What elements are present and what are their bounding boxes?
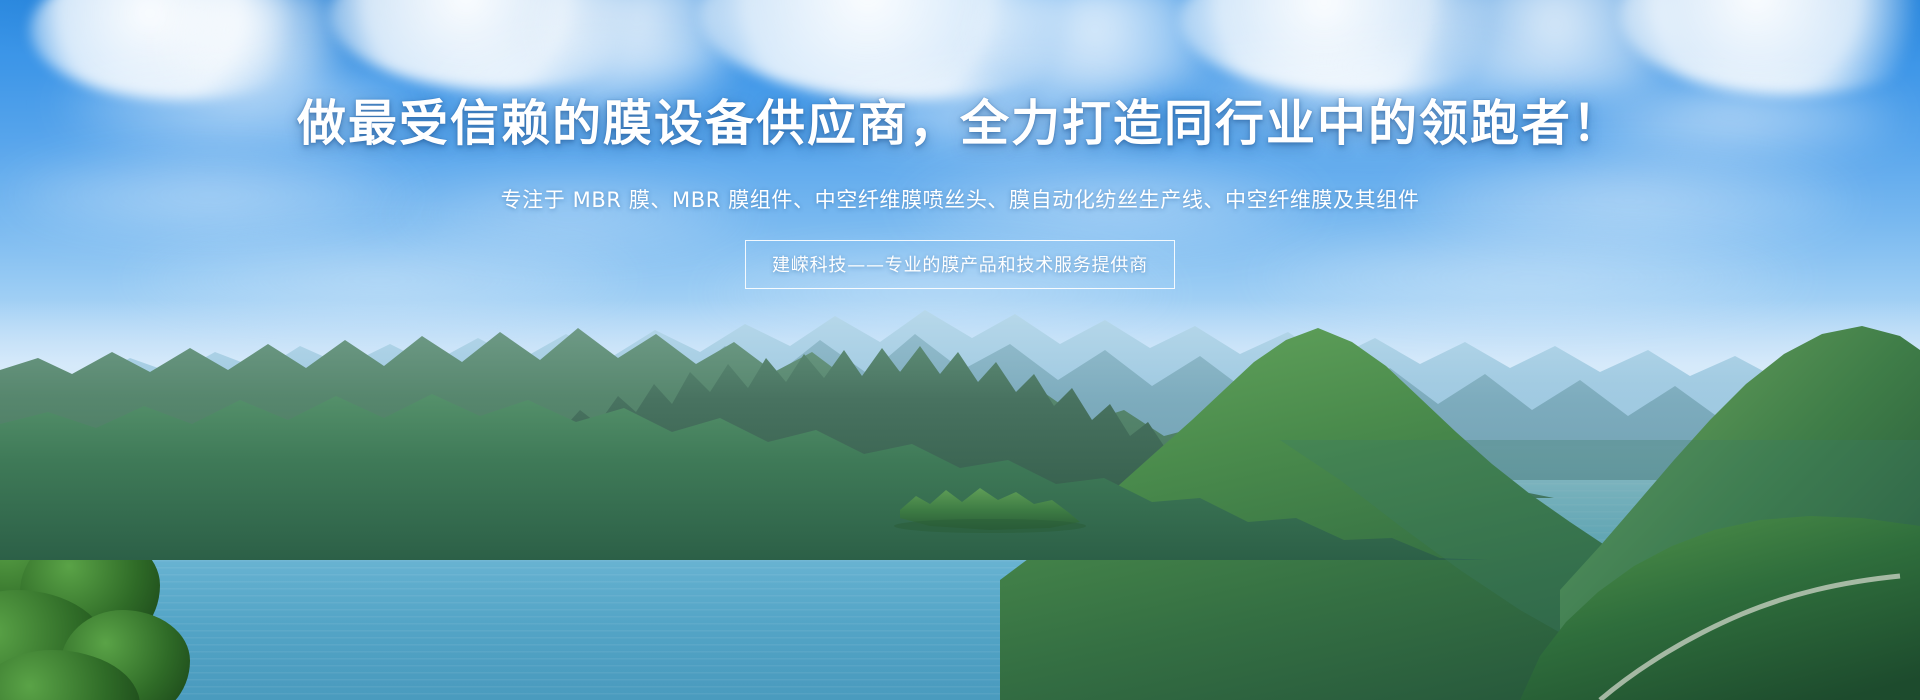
banner-subheadline: 专注于 MBR 膜、MBR 膜组件、中空纤维膜喷丝头、膜自动化纺丝生产线、中空纤…: [0, 186, 1920, 215]
hero-banner: 做最受信赖的膜设备供应商，全力打造同行业中的领跑者！ 专注于 MBR 膜、MBR…: [0, 0, 1920, 700]
banner-tagline-box: 建嵘科技——专业的膜产品和技术服务提供商: [745, 240, 1175, 289]
banner-headline: 做最受信赖的膜设备供应商，全力打造同行业中的领跑者！: [0, 98, 1920, 149]
banner-text-overlay: 做最受信赖的膜设备供应商，全力打造同行业中的领跑者！ 专注于 MBR 膜、MBR…: [0, 0, 1920, 700]
